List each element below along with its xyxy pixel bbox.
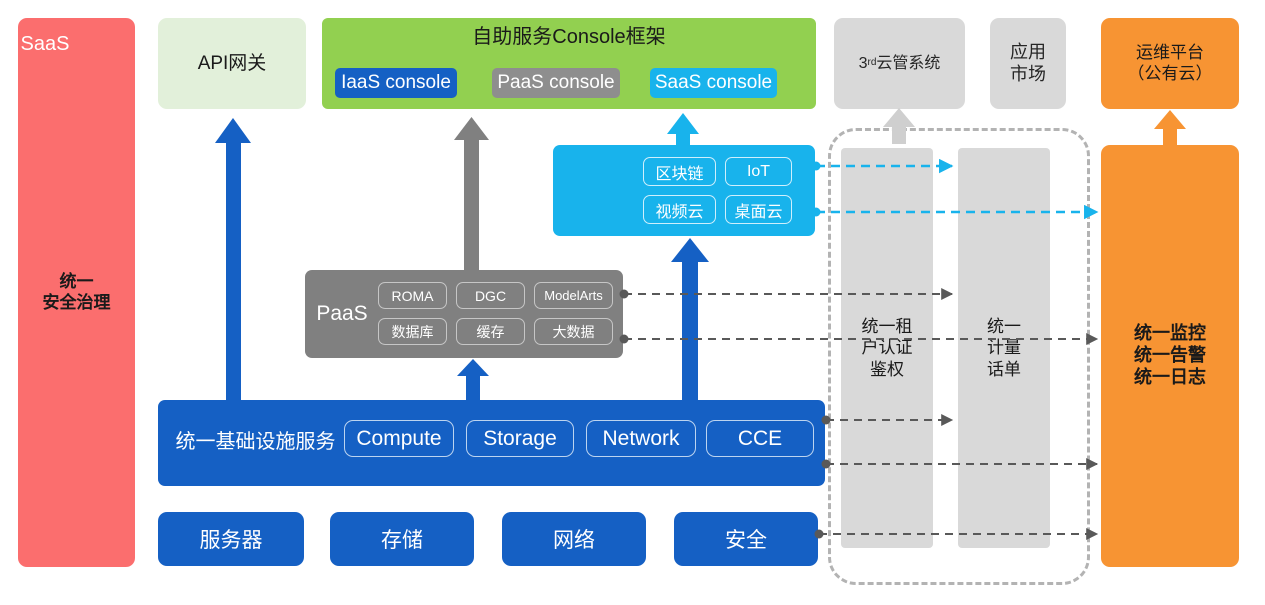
hardware-box-server[interactable]: 服务器 bbox=[158, 512, 304, 566]
saas-console-badge[interactable]: SaaS console bbox=[650, 68, 777, 98]
saas-label: SaaS bbox=[10, 33, 80, 56]
saas-tag-desktop-cloud[interactable]: 桌面云 bbox=[725, 195, 792, 224]
paas-tag-roma[interactable]: ROMA bbox=[378, 282, 447, 309]
ops-platform-box: 运维平台 （公有云） bbox=[1101, 18, 1239, 109]
paas-tag-bigdata[interactable]: 大数据 bbox=[534, 318, 613, 345]
paas-tag-modelarts[interactable]: ModelArts bbox=[534, 282, 613, 309]
unified-tenant-auth-column: 统一租 户认证 鉴权 bbox=[841, 148, 933, 548]
saas-tag-video-cloud[interactable]: 视频云 bbox=[643, 195, 716, 224]
third-party-ordinal: rd bbox=[867, 57, 876, 69]
unified-metering-column: 统一 计量 话单 bbox=[958, 148, 1050, 548]
arrow-ops-panel-to-platform bbox=[1154, 110, 1186, 145]
hardware-box-security[interactable]: 安全 bbox=[674, 512, 818, 566]
hardware-box-network[interactable]: 网络 bbox=[502, 512, 646, 566]
paas-tag-cache[interactable]: 缓存 bbox=[456, 318, 525, 345]
arrow-infra-to-paas bbox=[457, 359, 489, 400]
infra-tag-compute[interactable]: Compute bbox=[344, 420, 454, 457]
arrow-saas-to-console bbox=[667, 113, 699, 146]
console-framework-title: 自助服务Console框架 bbox=[322, 25, 816, 49]
paas-tag-database[interactable]: 数据库 bbox=[378, 318, 447, 345]
arrow-infra-to-saas bbox=[671, 238, 709, 400]
paas-tag-dgc[interactable]: DGC bbox=[456, 282, 525, 309]
unified-infrastructure-label: 统一基础设施服务 bbox=[168, 425, 343, 454]
api-gateway-box: API网关 bbox=[158, 18, 306, 109]
third-party-cloud-management-box: 3rd云管系统 bbox=[834, 18, 965, 109]
ops-monitoring-panel: 统一监控 统一告警 统一日志 bbox=[1101, 145, 1239, 567]
infra-tag-storage[interactable]: Storage bbox=[466, 420, 574, 457]
third-party-prefix: 3 bbox=[859, 54, 868, 74]
arrow-infra-to-api-gateway bbox=[215, 118, 251, 400]
infra-tag-network[interactable]: Network bbox=[586, 420, 696, 457]
paas-console-badge[interactable]: PaaS console bbox=[492, 68, 620, 98]
saas-tag-iot[interactable]: IoT bbox=[725, 157, 792, 186]
application-market-box: 应用 市场 bbox=[990, 18, 1066, 109]
third-party-suffix: 云管系统 bbox=[876, 54, 940, 74]
infra-tag-cce[interactable]: CCE bbox=[706, 420, 814, 457]
saas-tag-blockchain[interactable]: 区块链 bbox=[643, 157, 716, 186]
security-governance-panel: 统一 安全治理 bbox=[18, 18, 135, 567]
hardware-box-storage[interactable]: 存储 bbox=[330, 512, 474, 566]
iaas-console-badge[interactable]: IaaS console bbox=[335, 68, 457, 98]
architecture-diagram: 统一 安全治理 API网关 自助服务Console框架 IaaS console… bbox=[0, 0, 1265, 605]
arrow-paas-to-console bbox=[454, 117, 489, 270]
paas-label: PaaS bbox=[311, 302, 373, 326]
